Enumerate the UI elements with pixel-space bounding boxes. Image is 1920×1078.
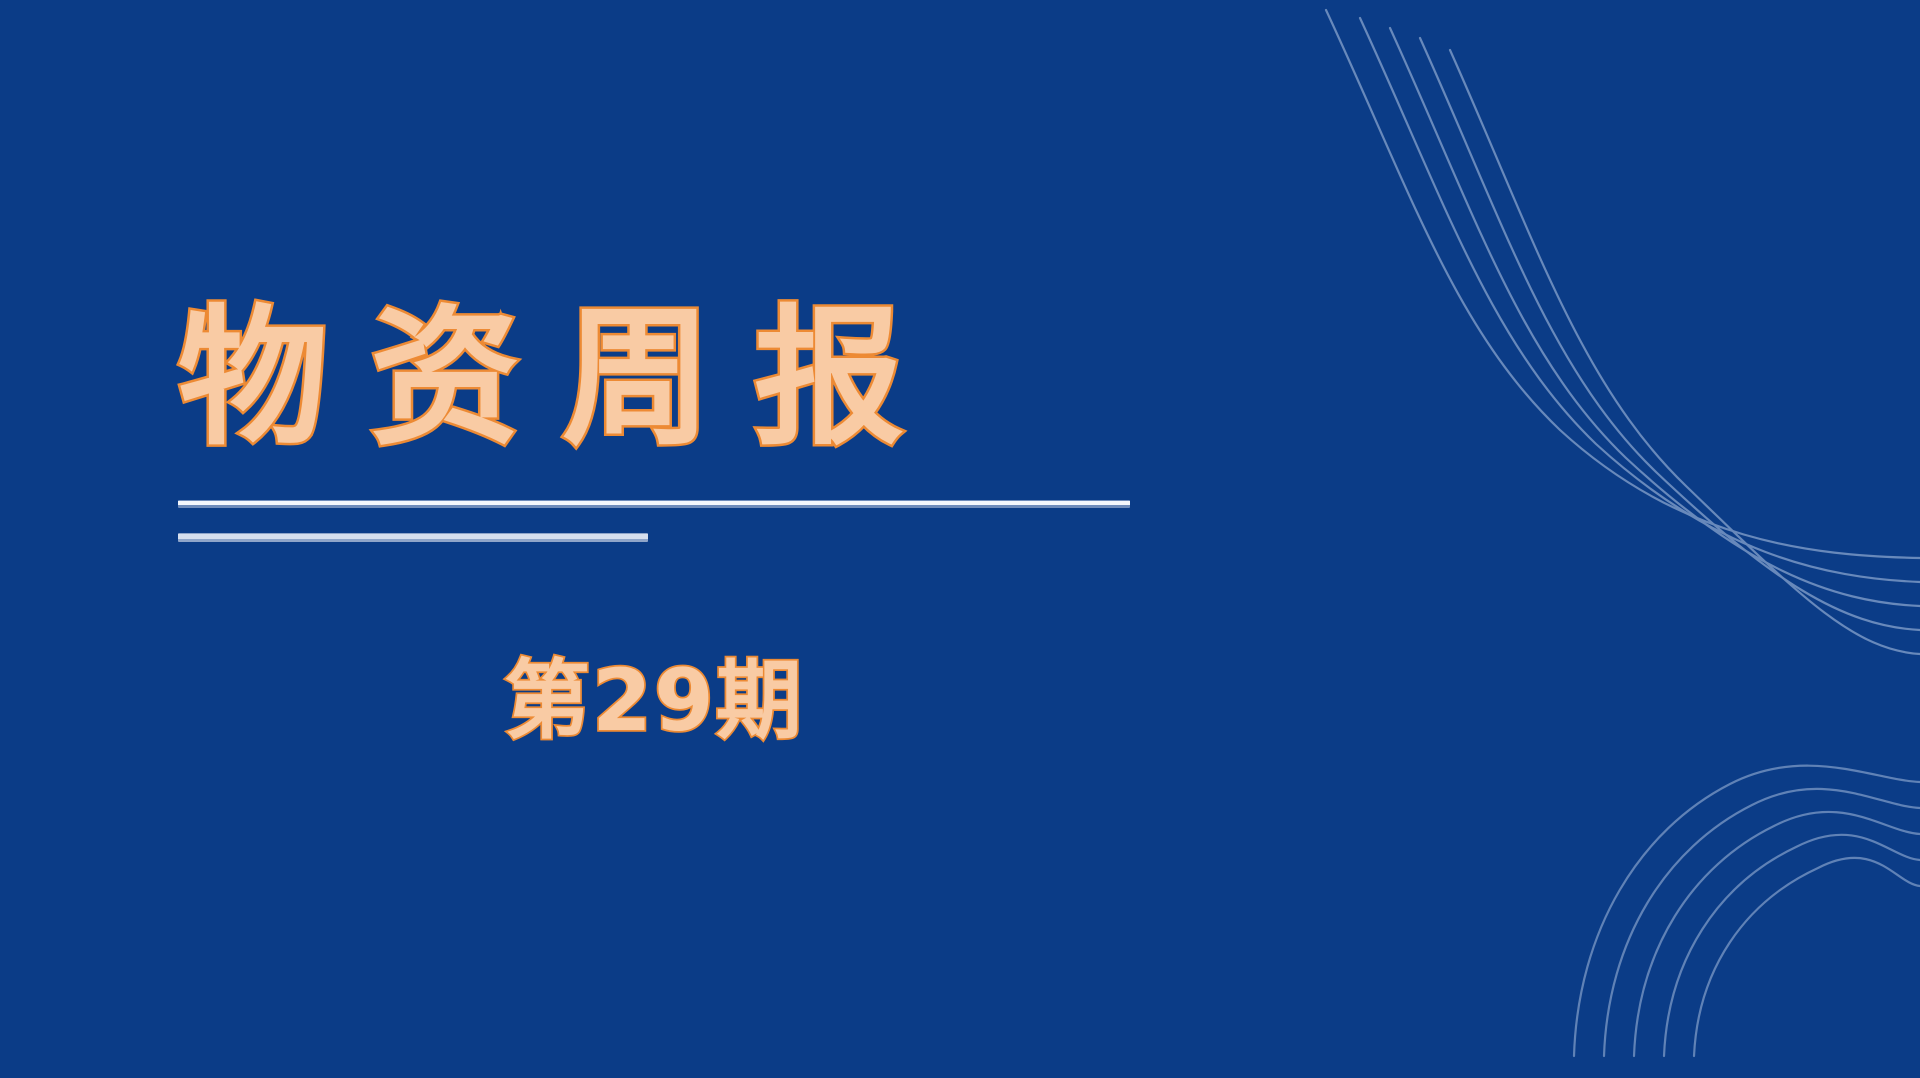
title-underline-long-highlight [178, 501, 1130, 505]
title-underline-long [178, 500, 1130, 508]
title-underline-short [178, 533, 648, 542]
page-title: 物资周报 [178, 292, 1378, 466]
title-block: 物资周报 [178, 292, 1378, 466]
issue-subtitle: 第29期 [178, 648, 1130, 756]
slide-canvas: 物资周报 第29期 [0, 0, 1920, 1078]
title-underline-short-highlight [178, 534, 648, 539]
